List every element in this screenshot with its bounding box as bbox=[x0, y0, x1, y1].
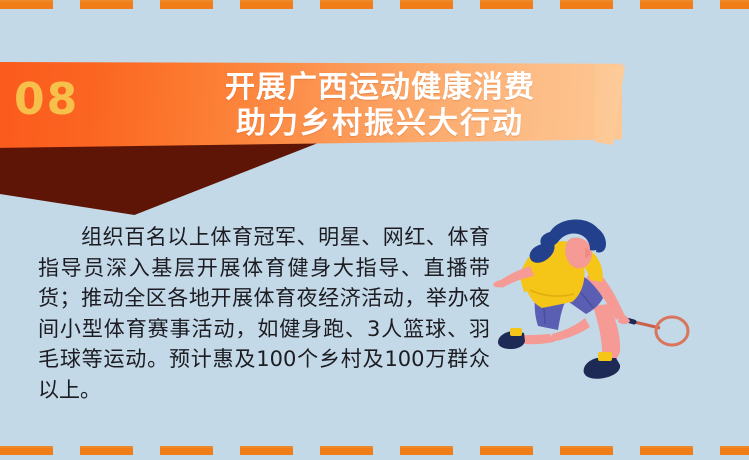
bottom-dashed-border bbox=[0, 446, 749, 455]
banner-fold-shadow bbox=[0, 140, 320, 215]
bottom-border-dash bbox=[320, 446, 373, 455]
top-border-dash bbox=[560, 0, 613, 9]
bottom-border-dash bbox=[0, 446, 53, 455]
bottom-border-gap bbox=[293, 447, 320, 454]
top-border-dash bbox=[240, 0, 293, 9]
bottom-border-dash bbox=[480, 446, 533, 455]
bottom-border-gap bbox=[373, 447, 400, 454]
top-border-gap bbox=[213, 1, 240, 8]
top-border-gap bbox=[533, 1, 560, 8]
bottom-border-gap bbox=[613, 447, 640, 454]
headline-banner: 08 开展广西运动健康消费 助力乡村振兴大行动 bbox=[0, 52, 749, 197]
bottom-border-dash bbox=[400, 446, 453, 455]
bottom-border-dash bbox=[240, 446, 293, 455]
top-border-gap bbox=[133, 1, 160, 8]
top-border-gap bbox=[613, 1, 640, 8]
racket-icon bbox=[623, 317, 688, 345]
bottom-border-gap bbox=[453, 447, 480, 454]
top-dashed-border bbox=[0, 0, 749, 9]
top-border-dash bbox=[80, 0, 133, 9]
top-border-dash bbox=[720, 0, 749, 9]
banner-title-line-2: 助力乡村振兴大行动 bbox=[170, 106, 590, 142]
banner-title-line-1: 开展广西运动健康消费 bbox=[170, 70, 590, 106]
top-border-dash bbox=[320, 0, 373, 9]
poster-canvas: 08 开展广西运动健康消费 助力乡村振兴大行动 组织百名以上体育冠军、明星、网红… bbox=[0, 0, 749, 460]
bottom-border-gap bbox=[213, 447, 240, 454]
badminton-player-illustration bbox=[490, 218, 749, 440]
top-border-dash bbox=[160, 0, 213, 9]
bottom-border-gap bbox=[133, 447, 160, 454]
bottom-border-dash bbox=[560, 446, 613, 455]
top-border-gap bbox=[53, 1, 80, 8]
bottom-border-gap bbox=[53, 447, 80, 454]
bottom-border-gap bbox=[533, 447, 560, 454]
bottom-border-dash bbox=[80, 446, 133, 455]
top-border-dash bbox=[0, 0, 53, 9]
bottom-border-dash bbox=[160, 446, 213, 455]
top-border-dash bbox=[480, 0, 533, 9]
top-border-gap bbox=[453, 1, 480, 8]
banner-title: 开展广西运动健康消费 助力乡村振兴大行动 bbox=[170, 70, 590, 142]
bottom-border-dash bbox=[720, 446, 749, 455]
top-border-gap bbox=[693, 1, 720, 8]
bottom-border-gap bbox=[693, 447, 720, 454]
bottom-border-dash bbox=[640, 446, 693, 455]
top-border-dash bbox=[640, 0, 693, 9]
top-border-gap bbox=[293, 1, 320, 8]
body-paragraph: 组织百名以上体育冠军、明星、网红、体育指导员深入基层开展体育健身大指导、直播带货… bbox=[38, 222, 490, 405]
banner-number: 08 bbox=[14, 78, 79, 122]
top-border-gap bbox=[373, 1, 400, 8]
top-border-dash bbox=[400, 0, 453, 9]
